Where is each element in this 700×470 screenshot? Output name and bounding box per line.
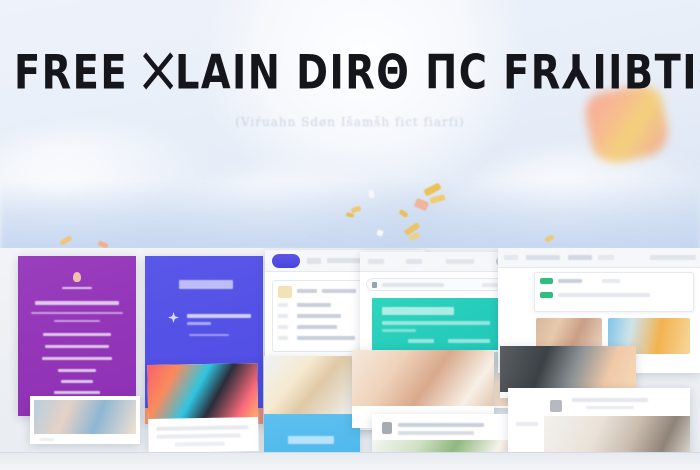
- list-item: [189, 334, 229, 336]
- card-photo: [352, 350, 494, 406]
- list-item: [43, 333, 111, 336]
- card-text: [156, 425, 248, 431]
- results-panel: [534, 272, 694, 312]
- page-subtitle: (Viŕuahn Sdøn Išamšh fict fiarfi): [0, 115, 700, 129]
- list-item: [61, 380, 93, 383]
- card-title: [572, 398, 648, 402]
- card-label: [516, 422, 538, 426]
- screenshot-root: FREE ⨉LAIN DIRΘ ПC FR⅄IIBTIC B (Viŕuahn …: [0, 0, 700, 470]
- lock-icon: [372, 282, 377, 288]
- card-icon: [550, 400, 562, 412]
- brand-logo: [179, 280, 233, 289]
- list-item: [278, 325, 288, 329]
- tab-label-active[interactable]: [568, 255, 592, 260]
- template-collage: [0, 248, 700, 470]
- list-item: [35, 301, 119, 305]
- list-item: [42, 357, 112, 360]
- brand-badge-icon: [540, 292, 553, 298]
- list-item: [187, 322, 211, 325]
- card-photo: [500, 346, 636, 392]
- result-meta: [602, 279, 620, 283]
- hero-banner-subtitle: [382, 321, 490, 325]
- list-item: [54, 320, 100, 322]
- card-icon: [382, 422, 392, 434]
- list-item-label: [322, 289, 356, 293]
- hero-section: FREE ⨉LAIN DIRΘ ПC FR⅄IIBTIC B (Viŕuahn …: [0, 0, 700, 252]
- list-item: [45, 345, 109, 348]
- list-item: [278, 314, 288, 318]
- card-text: [175, 442, 225, 447]
- tab-label[interactable]: [526, 255, 560, 260]
- list-item-label: [297, 314, 341, 318]
- list-item-thumb: [278, 286, 292, 298]
- photo-jump-card[interactable]: [30, 396, 140, 444]
- tab-label[interactable]: [598, 255, 614, 260]
- hero-banner-note: [382, 329, 416, 332]
- tab-label[interactable]: [504, 255, 518, 260]
- collage-bottom-edge: [0, 452, 700, 470]
- tab-label[interactable]: [368, 259, 384, 264]
- list-item: [278, 303, 288, 307]
- poster-logo-icon: [73, 272, 81, 282]
- card-footer-title: [288, 436, 334, 444]
- card-photo: [147, 363, 258, 419]
- card-subtitle: [586, 406, 634, 409]
- sparkle-icon: [168, 312, 179, 323]
- list-item: [54, 391, 100, 394]
- result-description: [558, 293, 650, 297]
- list-item: [278, 336, 288, 340]
- list-item-label: [297, 289, 317, 293]
- list-item-label: [297, 336, 355, 340]
- card-caption: [40, 438, 54, 441]
- result-title[interactable]: [558, 279, 582, 283]
- tab-label[interactable]: [406, 259, 422, 264]
- tab-label[interactable]: [446, 259, 474, 264]
- list-item[interactable]: [18, 256, 136, 416]
- list-item: [31, 312, 123, 314]
- card-text: [398, 431, 474, 435]
- brand-badge-icon: [540, 278, 553, 284]
- card-photo: [34, 400, 136, 434]
- photo-neon-card[interactable]: [147, 363, 259, 453]
- list-item: [58, 369, 96, 372]
- list-item: [62, 287, 92, 289]
- address-bar-url: [382, 283, 444, 287]
- card-photo: [264, 356, 360, 414]
- primary-action-button[interactable]: [272, 254, 300, 268]
- toolbar-search[interactable]: [650, 255, 696, 260]
- hero-banner-title: [382, 307, 454, 315]
- card-text: [398, 423, 484, 427]
- page-title: FREE ⨉LAIN DIRΘ ПC FR⅄IIBTIC B: [14, 46, 686, 100]
- list-item: [187, 314, 251, 318]
- card-text: [156, 433, 240, 438]
- toolbar-field[interactable]: [307, 258, 321, 264]
- hero-banner-cta[interactable]: [408, 339, 434, 343]
- hero-banner-cta-secondary[interactable]: [448, 339, 490, 343]
- list-item-label: [297, 303, 331, 307]
- list-item-label: [297, 325, 337, 329]
